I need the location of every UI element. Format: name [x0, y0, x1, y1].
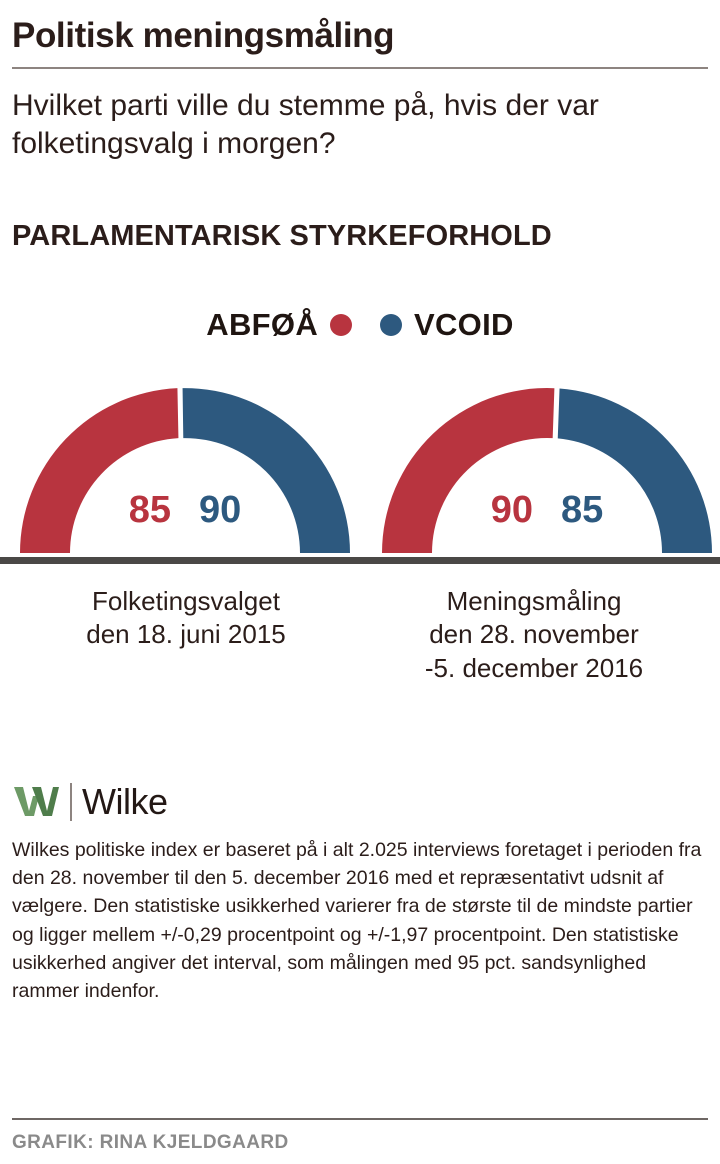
caption-right-line-1: Meningsmåling: [360, 585, 708, 619]
gauge-right-svg: [372, 377, 720, 557]
infographic-page: Politisk meningsmåling Hvilket parti vil…: [0, 0, 720, 1164]
wilke-logo-text: Wilke: [82, 784, 168, 820]
section-title: PARLAMENTARISK STYRKEFORHOLD: [12, 220, 708, 253]
page-title: Politisk meningsmåling: [12, 0, 708, 55]
gauge-captions: Folketingsvalget den 18. juni 2015 Menin…: [12, 585, 708, 686]
legend-dot-red-icon: [330, 314, 352, 336]
title-divider: [12, 67, 708, 69]
gauge-baseline: [0, 557, 720, 564]
gauge-right-blue-arc: [558, 388, 712, 553]
gauge-folketingsvalget-2015: 85 90: [10, 377, 360, 557]
caption-right-line-2: den 28. november: [360, 618, 708, 652]
gauge-caption-left: Folketingsvalget den 18. juni 2015: [12, 585, 360, 686]
caption-right-line-3: -5. december 2016: [360, 652, 708, 686]
gauge-chart-group: 85 90 90 85: [12, 377, 708, 569]
legend-item-blue: VCOID: [380, 307, 514, 343]
legend-item-red: ABFØÅ: [206, 307, 352, 343]
gauge-left-blue-arc: [183, 388, 350, 553]
legend-label-red: ABFØÅ: [206, 307, 318, 343]
logo-divider: [70, 783, 72, 821]
gauge-meningsmaling-2016: 90 85: [372, 377, 720, 557]
gauge-right-red-arc: [382, 388, 554, 553]
legend-dot-blue-icon: [380, 314, 402, 336]
source-note: Wilkes politiske index er baseret på i a…: [12, 836, 708, 1006]
footer-divider: [12, 1118, 708, 1120]
caption-left-line-1: Folketingsvalget: [12, 585, 360, 619]
gauge-left-red-arc: [20, 388, 178, 553]
gauge-left-svg: [10, 377, 360, 557]
caption-left-line-2: den 18. juni 2015: [12, 618, 360, 652]
graphic-credit: GRAFIK: RINA KJELDGAARD: [12, 1132, 289, 1154]
source-block: Wilke Wilkes politiske index er baseret …: [12, 780, 708, 1006]
legend: ABFØÅ VCOID: [12, 307, 708, 343]
gauge-caption-right: Meningsmåling den 28. november -5. decem…: [360, 585, 708, 686]
wilke-w-mark-icon: [12, 785, 60, 819]
wilke-logo: Wilke: [12, 780, 708, 824]
legend-label-blue: VCOID: [414, 307, 514, 343]
subtitle-question: Hvilket parti ville du stemme på, hvis d…: [12, 87, 692, 164]
